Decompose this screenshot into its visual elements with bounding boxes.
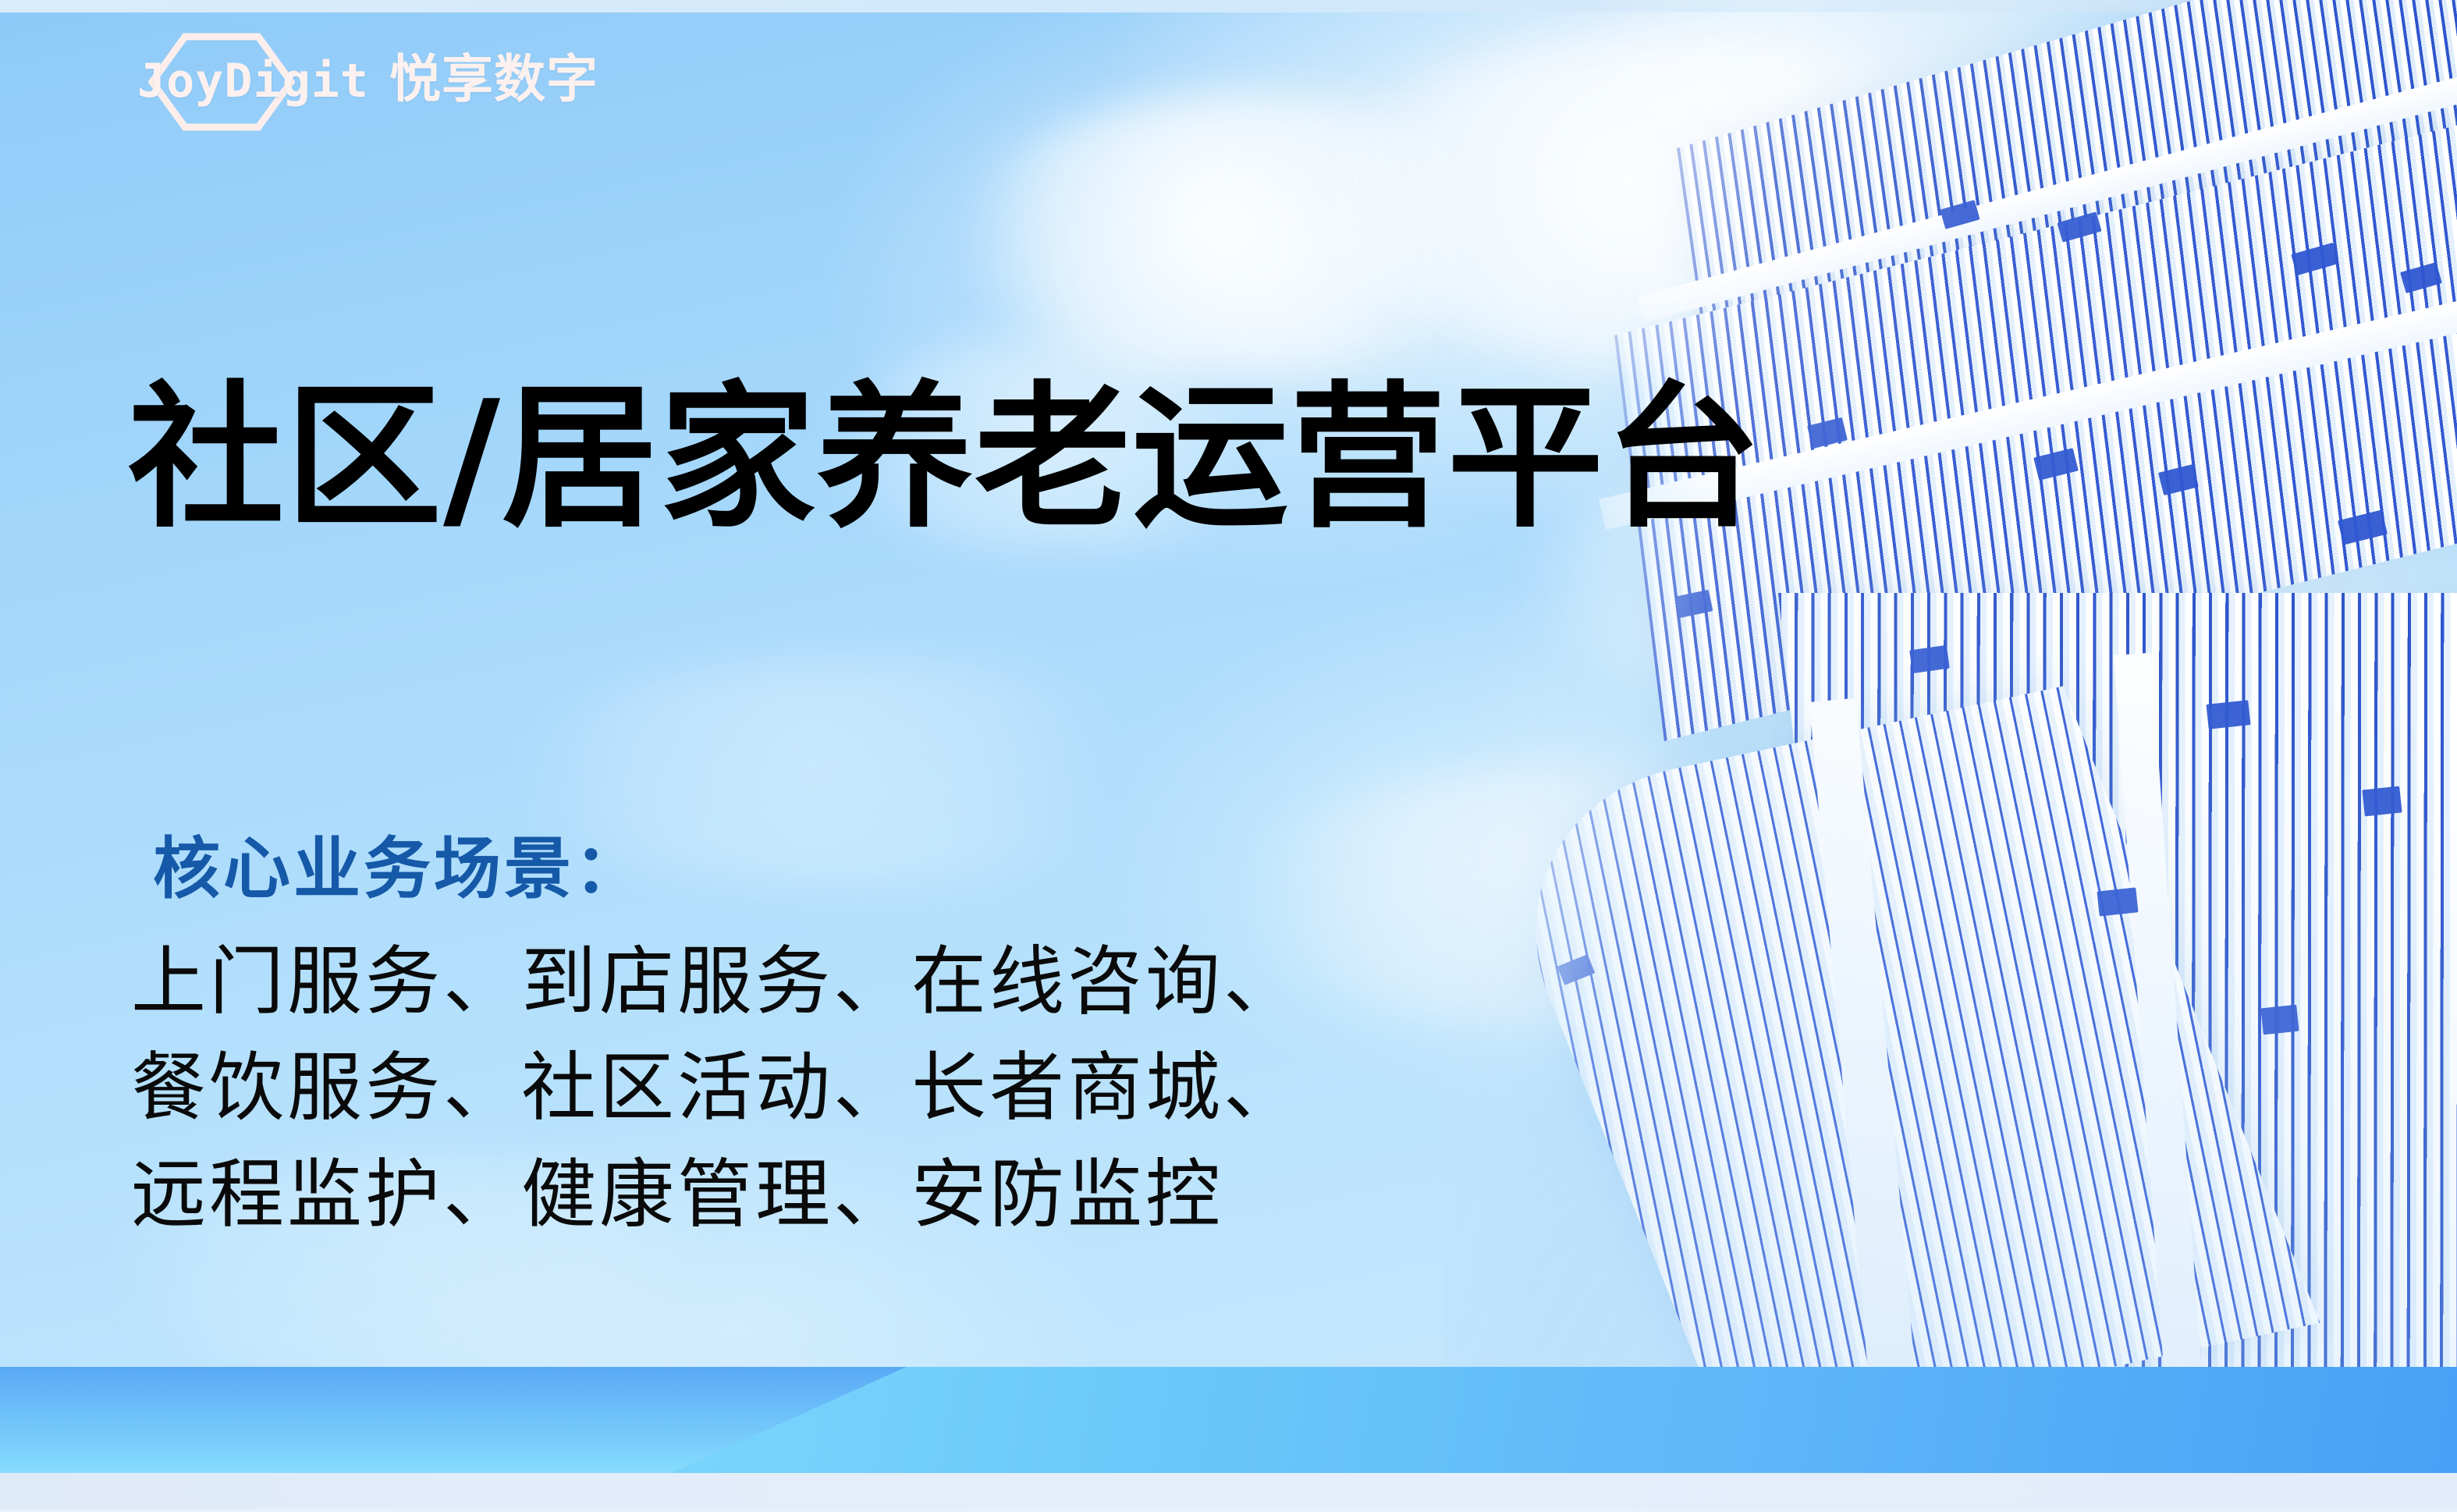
page-footer-edge: [0, 1509, 2457, 1512]
section-heading: 核心业务场景：: [153, 836, 644, 903]
brand-logo-text: JoyDigit悦享数字: [137, 53, 668, 105]
scenario-line: 上门服务、到店服务、在线咨询、: [131, 928, 1575, 1035]
slide-root: JoyDigit悦享数字 社区/居家养老运营平台 核心业务场景： 上门服务、到店…: [0, 0, 2457, 1512]
brand-logo[interactable]: JoyDigit悦享数字: [137, 31, 668, 133]
scenario-line: 远程监护、健康管理、安防监控: [131, 1141, 1575, 1248]
brand-logo-cjk: 悦享数字: [389, 49, 598, 109]
brand-logo-latin: JoyDigit: [137, 54, 369, 108]
band-underline-strip: [0, 1473, 2457, 1512]
building-window-accent: [2362, 786, 2402, 817]
band-right-parallelogram: [671, 1367, 2457, 1473]
building-window-accent: [2206, 700, 2250, 729]
scenario-list: 上门服务、到店服务、在线咨询、 餐饮服务、社区活动、长者商城、 远程监护、健康管…: [131, 928, 1575, 1248]
skyscraper-photo: [1443, 0, 2457, 1404]
building-window-accent: [2097, 887, 2138, 916]
building-window-accent: [2260, 1005, 2299, 1035]
bottom-decorative-band: [0, 1367, 2457, 1512]
scenario-line: 餐饮服务、社区活动、长者商城、: [131, 1035, 1575, 1141]
page-title: 社区/居家养老运营平台: [128, 379, 1763, 538]
